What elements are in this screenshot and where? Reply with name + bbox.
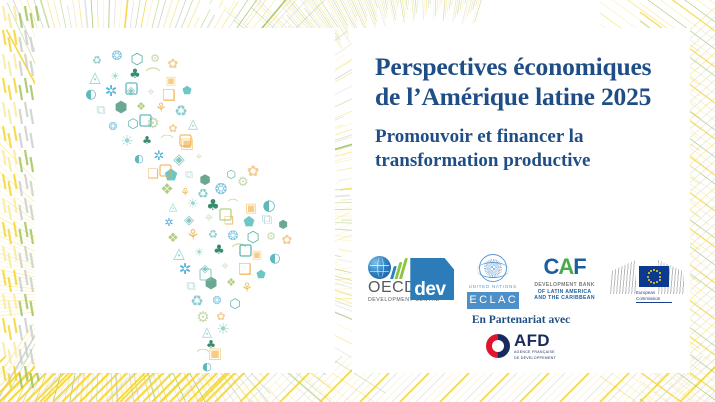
page-subtitle-line-2: transformation productive [375, 149, 687, 173]
eu-star-icon [659, 272, 661, 274]
swoosh-icon [392, 257, 408, 279]
caf-tagline-line-3: AND THE CARIBBEAN [534, 295, 595, 301]
eu-star-icon [659, 276, 661, 278]
svg-text:⚘: ⚘ [186, 226, 199, 244]
eu-star-icon [648, 272, 650, 274]
svg-text:❑: ❑ [147, 167, 159, 182]
svg-text:⌖: ⌖ [196, 150, 202, 163]
eu-underline [636, 302, 672, 303]
svg-text:⬡: ⬡ [226, 168, 236, 181]
svg-text:⧉: ⧉ [96, 103, 105, 118]
oecd-development-centre-logo: OECD DEVELOPMENT CENTRE dev [368, 256, 454, 310]
svg-text:☀: ☀ [216, 320, 229, 338]
svg-text:♣: ♣ [142, 134, 152, 147]
caf-wordmark: CAF [531, 256, 598, 278]
svg-text:⧉: ⧉ [262, 210, 273, 228]
svg-text:⌖: ⌖ [147, 85, 155, 100]
svg-text:◈: ◈ [127, 84, 136, 97]
page-title-line-2: de l’Amérique latine 2025 [375, 82, 687, 112]
svg-text:⚙: ⚙ [196, 308, 209, 326]
svg-text:✲: ✲ [179, 260, 192, 278]
svg-text:⬡: ⬡ [127, 117, 138, 132]
svg-text:◐: ◐ [202, 360, 212, 373]
afd-tagline-line-1: AGENCE FRANÇAISE [514, 350, 556, 355]
svg-text:✲: ✲ [154, 149, 165, 164]
svg-text:⌖: ⌖ [221, 259, 229, 274]
eu-flag-icon [639, 266, 669, 287]
svg-text:✿: ✿ [168, 57, 179, 72]
partnership-block: En Partenariat avec AFD AGENCE FRANÇAISE… [352, 314, 690, 360]
svg-text:♻: ♻ [92, 54, 102, 67]
svg-text:❂: ❂ [212, 294, 221, 307]
svg-text:⬡: ⬡ [246, 228, 259, 246]
eu-wing-left-icon [610, 260, 636, 294]
united-nations-label: UNITED NATIONS [466, 284, 519, 289]
united-nations-emblem-icon [479, 254, 507, 282]
svg-text:✿: ✿ [282, 233, 293, 248]
svg-text:☀: ☀ [187, 197, 199, 212]
eu-star-icon [650, 281, 652, 283]
caf-letter-a: A [558, 254, 573, 279]
svg-text:◐: ◐ [134, 152, 144, 165]
svg-text:▣: ▣ [252, 248, 262, 261]
svg-text:⌖: ⌖ [205, 208, 214, 226]
eu-star-icon [647, 276, 649, 278]
caf-development-bank-logo: CAF DEVELOPMENT BANK OF LATIN AMERICA AN… [531, 256, 598, 310]
cover-page: ♻❂⬡⚙✿◬☀♣⌒▣◐✲◈⌖❑⬟⧉⬢❖⚘♻❂⬡⚙✿◬☀♣⌒▣◐✲◈⌖❑⬟⧉⬢❖⚘… [0, 0, 715, 402]
caf-tagline-line-2: OF LATIN AMERICA [538, 289, 592, 295]
eu-star-icon [653, 269, 655, 271]
european-commission-logo: European Commission [610, 256, 684, 310]
partnership-label: En Partenariat avec [352, 314, 690, 326]
svg-text:⧉: ⧉ [185, 168, 193, 181]
eclac-wordmark: ECLAC [467, 292, 519, 309]
afd-logo: AFD AGENCE FRANÇAISE DE DÉVELOPPEMENT [476, 332, 566, 360]
svg-text:☀: ☀ [120, 132, 133, 150]
afd-ring-icon [486, 334, 510, 358]
svg-text:♣: ♣ [213, 243, 225, 258]
caf-tagline-line-1: DEVELOPMENT BANK [531, 282, 598, 289]
svg-text:☀: ☀ [194, 246, 204, 259]
svg-text:❖: ❖ [160, 180, 173, 198]
un-eclac-logo: UNITED NATIONS ECLAC [466, 254, 519, 310]
eu-star-icon [650, 270, 652, 272]
eu-caption-line-2: Commission [636, 296, 672, 302]
svg-text:❑: ❑ [238, 260, 251, 278]
svg-text:✿: ✿ [168, 122, 177, 135]
svg-text:⬟: ⬟ [182, 84, 192, 97]
caf-letter-f: F [573, 254, 585, 279]
svg-text:⌒: ⌒ [145, 66, 160, 84]
eu-star-icon [656, 270, 658, 272]
svg-text:♻: ♻ [208, 228, 218, 241]
svg-text:⚙: ⚙ [150, 52, 160, 65]
afd-wordmark: AFD [514, 332, 556, 349]
svg-text:⬡: ⬡ [130, 50, 143, 68]
svg-text:⬢: ⬢ [199, 173, 210, 188]
svg-text:✲: ✲ [164, 216, 173, 229]
svg-text:◬: ◬ [89, 68, 101, 86]
svg-text:◬: ◬ [188, 117, 198, 132]
svg-text:♣: ♣ [129, 67, 141, 82]
svg-text:◐: ◐ [85, 87, 96, 102]
title-block: Perspectives économiques de l’Amérique l… [375, 52, 687, 173]
page-subtitle-line-1: Promouvoir et financer la [375, 125, 687, 149]
eu-star-icon [648, 279, 650, 281]
svg-text:⬡: ⬡ [229, 297, 240, 312]
svg-text:❂: ❂ [112, 49, 123, 64]
dev-badge: dev [410, 258, 454, 300]
svg-text:✿: ✿ [247, 162, 260, 180]
svg-text:⚘: ⚘ [241, 281, 253, 296]
page-title-line-1: Perspectives économiques [375, 52, 687, 82]
svg-text:◐: ◐ [269, 251, 280, 266]
svg-text:⬢: ⬢ [114, 98, 127, 116]
svg-text:❖: ❖ [226, 276, 236, 289]
partner-logo-row: OECD DEVELOPMENT CENTRE dev UNITED NATIO… [368, 252, 684, 310]
eu-caption: European Commission [636, 290, 672, 301]
svg-text:❂: ❂ [108, 120, 117, 133]
svg-text:♻: ♻ [174, 102, 187, 120]
eu-star-icon [659, 279, 661, 281]
svg-text:⚙: ⚙ [146, 114, 159, 132]
svg-text:❖: ❖ [136, 100, 146, 113]
svg-text:⚙: ⚙ [266, 230, 276, 243]
svg-text:◬: ◬ [169, 200, 178, 213]
svg-text:⌒: ⌒ [160, 135, 173, 150]
caf-letter-c: C [543, 254, 558, 279]
americas-icon-mosaic: ♻❂⬡⚙✿◬☀♣⌒▣◐✲◈⌖❑⬟⧉⬢❖⚘♻❂⬡⚙✿◬☀♣⌒▣◐✲◈⌖❑⬟⧉⬢❖⚘… [35, 28, 335, 373]
dev-badge-label: dev [414, 280, 445, 299]
eu-star-icon [653, 282, 655, 284]
globe-icon [368, 256, 391, 279]
eu-star-icon [656, 281, 658, 283]
svg-text:▣: ▣ [245, 201, 257, 216]
svg-text:⬟: ⬟ [256, 268, 266, 281]
svg-text:⬢: ⬢ [278, 218, 288, 231]
afd-tagline-line-2: DE DÉVELOPPEMENT [514, 356, 556, 361]
